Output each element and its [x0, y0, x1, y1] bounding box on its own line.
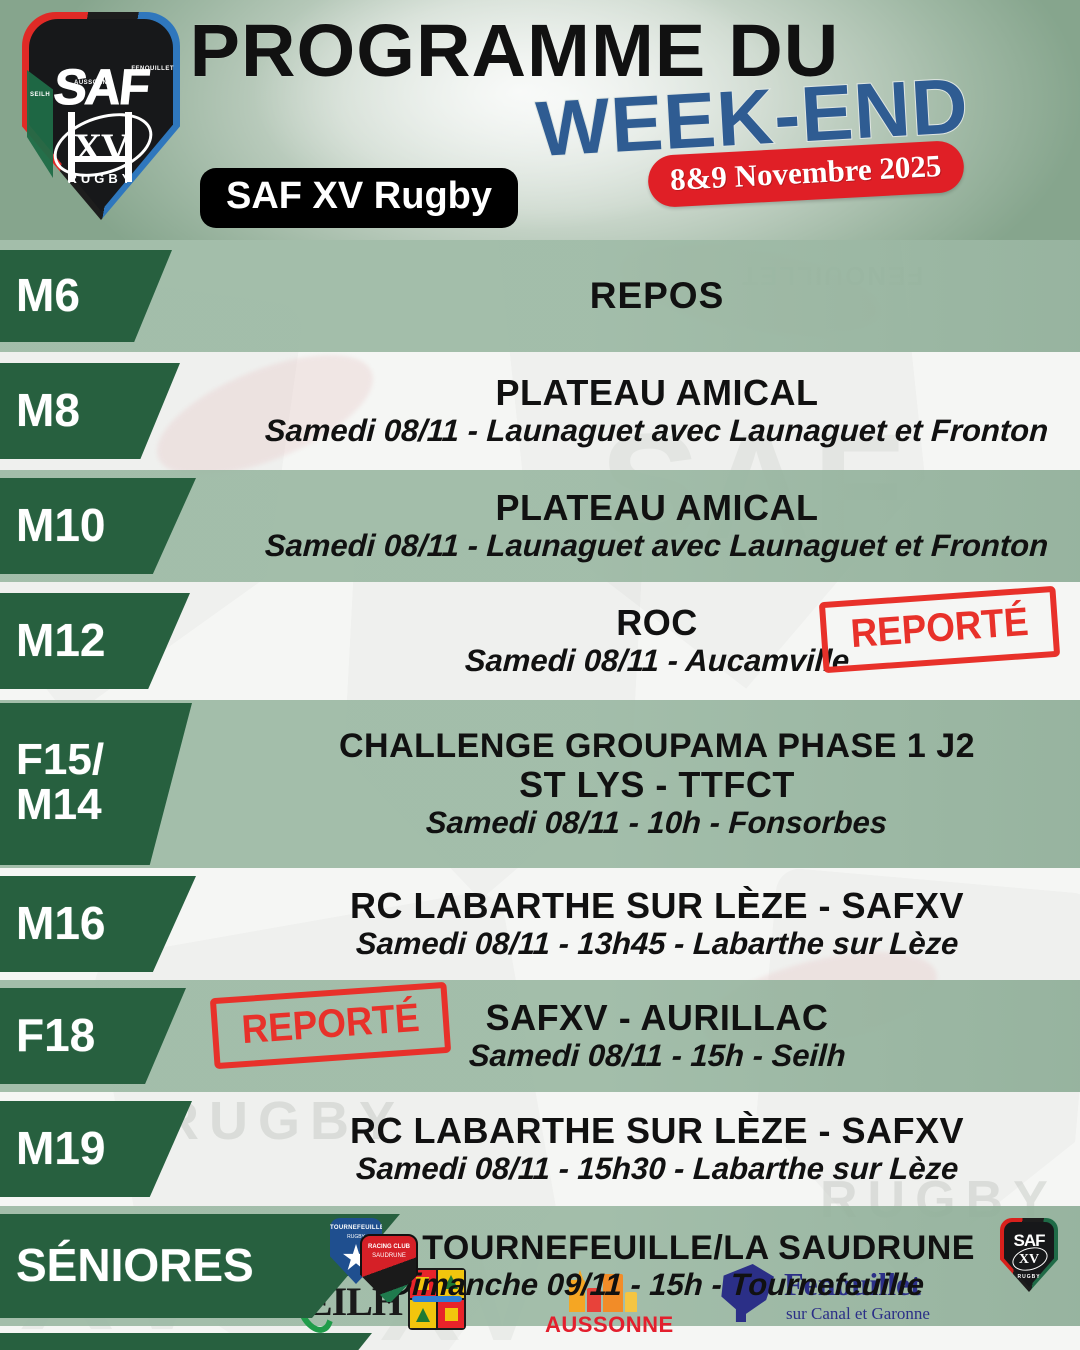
category-tag-label: F15/M14	[0, 738, 170, 828]
event-details: Samedi 08/11 - 13h45 - Labarthe sur Lèze	[355, 926, 959, 962]
event-details: Samedi 08/11 - 10h - Fonsorbes	[425, 805, 888, 841]
club-name-label: SAF XV Rugby	[226, 175, 492, 217]
club-crest-icon: SEILH AUSSONNE FENOUILLET SAF XV RUGBY	[22, 12, 180, 220]
event-details: Samedi 08/11 - Launaguet avec Launaguet …	[264, 528, 1049, 564]
poster-root: FENOUILLET RUGBY RUGBY SAF XV XV SEILH A…	[0, 0, 1080, 1350]
event-details: Samedi 08/11 - 15h - Seilh	[468, 1038, 847, 1074]
event-rest-label: REPOS	[590, 275, 725, 317]
event-title: SAFXV - AURILLAC	[486, 998, 829, 1038]
schedule-rows: M6REPOSM8PLATEAU AMICALSamedi 08/11 - La…	[0, 240, 1080, 1240]
event-title: RC LABARTHE SUR LÈZE - SAFXV	[350, 1111, 964, 1151]
event-title: PLATEAU AMICAL	[496, 488, 819, 528]
category-tag-label: M16	[0, 900, 171, 947]
poster-header: SEILH AUSSONNE FENOUILLET SAF XV RUGBY P…	[0, 0, 1080, 240]
event-title: RC LABARTHE SUR LÈZE - SAFXV	[350, 886, 964, 926]
schedule-row: F15/M14CHALLENGE GROUPAMA PHASE 1 J2ST L…	[0, 700, 1080, 868]
event-title: RAS TOURNEFEUILLE/LA SAUDRUNE	[339, 1229, 975, 1267]
row-content: REPOS	[250, 1326, 1064, 1350]
schedule-row: SÉNIORESRAS TOURNEFEUILLE/LA SAUDRUNEDim…	[0, 1206, 1080, 1326]
postponed-stamp-label: REPORTÉ	[849, 600, 1030, 657]
row-content: PLATEAU AMICALSamedi 08/11 - Launaguet a…	[250, 470, 1064, 582]
schedule-row: M19RC LABARTHE SUR LÈZE - SAFXVSamedi 08…	[0, 1092, 1080, 1206]
event-details: Samedi 08/11 - 15h30 - Labarthe sur Lèze	[355, 1151, 959, 1187]
schedule-row: F18SAFXV - AURILLACSamedi 08/11 - 15h - …	[0, 980, 1080, 1092]
event-details: Samedi 08/11 - Launaguet avec Launaguet …	[264, 413, 1049, 449]
crest-xv-text: XV	[22, 124, 180, 171]
event-details: Dimanche 09/11 - 15h - Tournefeuille	[389, 1267, 925, 1303]
date-badge-label: 8&9 Novembre 2025	[669, 148, 942, 197]
row-content: CHALLENGE GROUPAMA PHASE 1 J2ST LYS - TT…	[250, 700, 1064, 868]
event-title: CHALLENGE GROUPAMA PHASE 1 J2	[339, 727, 975, 765]
row-content: RC LABARTHE SUR LÈZE - SAFXVSamedi 08/11…	[250, 868, 1064, 980]
schedule-row: M8PLATEAU AMICALSamedi 08/11 - Launaguet…	[0, 352, 1080, 470]
category-tag-label: M19	[0, 1125, 171, 1172]
crest-saf-small-icon: SAFXVRUGBY	[1000, 1218, 1058, 1292]
category-tag-s-niors[interactable]: SÉNIORS	[0, 1333, 372, 1350]
schedule-row: M16RC LABARTHE SUR LÈZE - SAFXVSamedi 08…	[0, 868, 1080, 980]
schedule-row: M6REPOS	[0, 240, 1080, 352]
event-title: ROC	[616, 603, 698, 643]
crest-rugby-text: RUGBY	[22, 171, 180, 186]
category-tag-label: M12	[0, 617, 171, 664]
row-content: RC LABARTHE SUR LÈZE - SAFXVSamedi 08/11…	[250, 1092, 1064, 1206]
postponed-stamp-label: REPORTÉ	[240, 996, 421, 1053]
row-content: PLATEAU AMICALSamedi 08/11 - Launaguet a…	[250, 352, 1064, 470]
category-tag-label: M10	[0, 502, 171, 549]
row-content: REPOS	[250, 240, 1064, 352]
event-title-secondary: ST LYS - TTFCT	[519, 765, 795, 805]
category-tag-label: M8	[0, 387, 146, 434]
category-tag-label: SÉNIORES	[0, 1242, 320, 1289]
crest-saudrune-icon: RACING CLUBSAUDRUNE	[360, 1234, 418, 1306]
event-details: Samedi 08/11 - Aucamville	[464, 643, 850, 679]
event-title: PLATEAU AMICAL	[496, 373, 819, 413]
category-tag-label: F18	[0, 1012, 161, 1059]
schedule-row: M12ROCSamedi 08/11 - AucamvilleREPORTÉ	[0, 582, 1080, 700]
category-tag-label: M6	[0, 272, 146, 319]
club-name-badge: SAF XV Rugby	[200, 168, 518, 228]
crest-saf-text: SAF	[19, 58, 183, 116]
schedule-row: M10PLATEAU AMICALSamedi 08/11 - Launague…	[0, 470, 1080, 582]
